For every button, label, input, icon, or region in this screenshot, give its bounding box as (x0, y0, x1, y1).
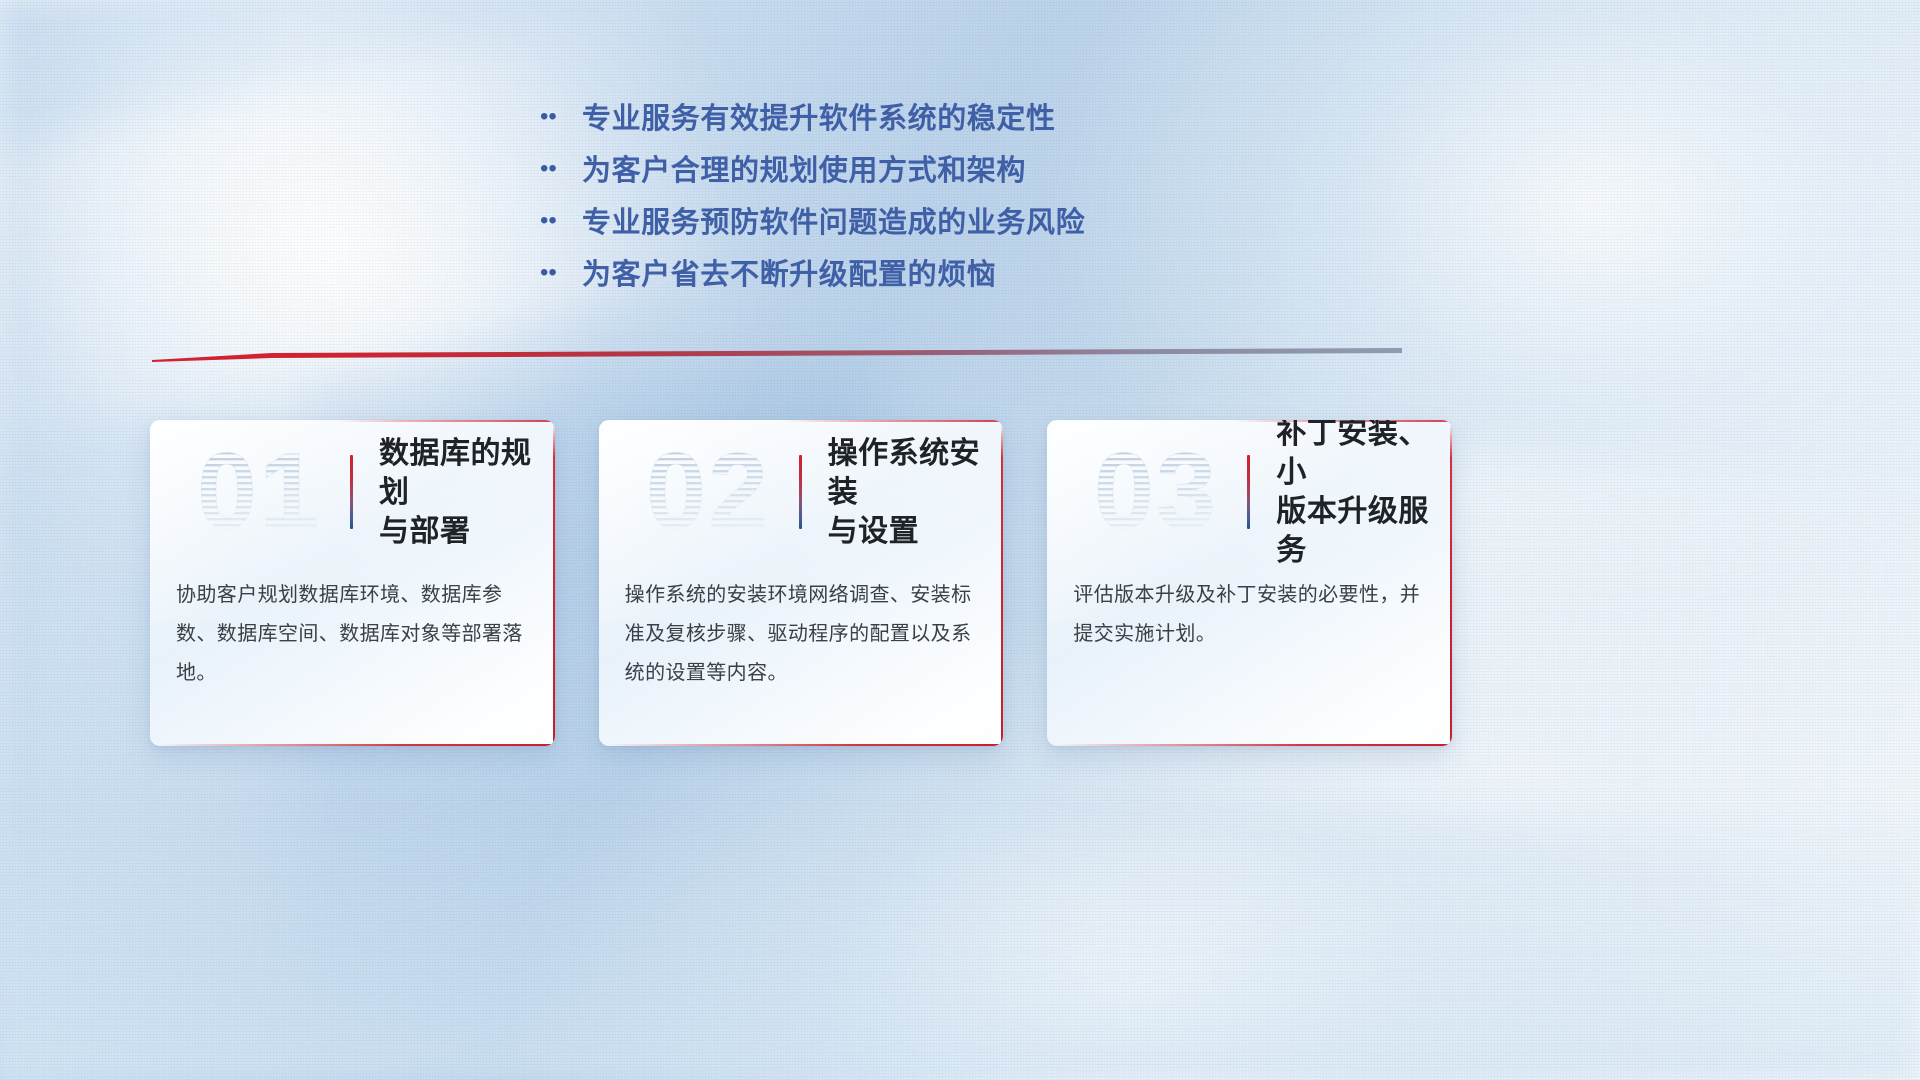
card-accent-edge-top (336, 420, 553, 422)
card-accent-edge-bottom (607, 744, 1004, 746)
service-card[interactable]: 01 01 数据库的规划 与部署 协助客户规划数据库环境、数据库参数、数据库空间… (150, 420, 555, 746)
card-title-line-1: 补丁安装、小 (1276, 420, 1434, 492)
card-title-line-1: 操作系统安装 (828, 434, 986, 512)
card-title-line-2: 与设置 (828, 512, 986, 551)
bullet-text: 专业服务预防软件问题造成的业务风险 (564, 199, 1085, 241)
card-title-line-2: 版本升级服务 (1276, 492, 1434, 570)
card-header: 01 01 数据库的规划 与部署 (150, 434, 537, 550)
card-accent-edge-bottom (1055, 744, 1452, 746)
card-title: 数据库的规划 与部署 (379, 434, 537, 551)
card-header: 02 02 操作系统安装 与设置 (599, 434, 986, 550)
card-accent-edge-bottom (158, 744, 555, 746)
card-body-text: 评估版本升级及补丁安装的必要性，并提交实施计划。 (1073, 576, 1428, 654)
card-accent-edge-right (1450, 426, 1452, 746)
striped-number-icon: 01 01 (172, 440, 346, 544)
card-title: 操作系统安装 与设置 (828, 434, 986, 551)
card-title-accent-bar (350, 455, 353, 529)
card-accent-edge-right (1001, 426, 1003, 746)
bullet-dot-icon: • (540, 207, 564, 233)
service-cards-row: 01 01 数据库的规划 与部署 协助客户规划数据库环境、数据库参数、数据库空间… (150, 420, 1452, 750)
list-item: • 专业服务预防软件问题造成的业务风险 (540, 194, 1085, 246)
card-title-accent-bar (799, 455, 802, 529)
bullet-dot-icon: • (540, 155, 564, 181)
bullet-text: 专业服务有效提升软件系统的稳定性 (564, 95, 1056, 137)
svg-text:01: 01 (197, 440, 321, 544)
bullet-text: 为客户合理的规划使用方式和架构 (564, 147, 1026, 189)
bullet-dot-icon: • (540, 103, 564, 129)
card-title-line-1: 数据库的规划 (379, 434, 537, 512)
card-number-watermark: 01 01 (172, 437, 346, 547)
card-number-watermark: 03 03 (1069, 437, 1243, 547)
striped-number-icon: 02 02 (621, 440, 795, 544)
divider-wedge-icon (152, 344, 1402, 368)
benefits-bullet-list: • 专业服务有效提升软件系统的稳定性 • 为客户合理的规划使用方式和架构 • 专… (540, 90, 1085, 298)
list-item: • 专业服务有效提升软件系统的稳定性 (540, 90, 1085, 142)
list-item: • 为客户合理的规划使用方式和架构 (540, 142, 1085, 194)
card-body-text: 协助客户规划数据库环境、数据库参数、数据库空间、数据库对象等部署落地。 (176, 576, 531, 693)
card-header: 03 03 补丁安装、小 版本升级服务 (1047, 434, 1434, 550)
card-title-accent-bar (1247, 455, 1250, 529)
bullet-text: 为客户省去不断升级配置的烦恼 (564, 251, 996, 293)
card-title: 补丁安装、小 版本升级服务 (1276, 420, 1434, 570)
section-divider (152, 344, 1402, 368)
list-item: • 为客户省去不断升级配置的烦恼 (540, 246, 1085, 298)
svg-text:03: 03 (1094, 440, 1218, 544)
svg-text:02: 02 (646, 440, 770, 544)
card-accent-edge-right (553, 426, 555, 746)
card-number-watermark: 02 02 (621, 437, 795, 547)
service-card[interactable]: 03 03 补丁安装、小 版本升级服务 评估版本升级及补丁安装的必要性，并提交实… (1047, 420, 1452, 746)
striped-number-icon: 03 03 (1069, 440, 1243, 544)
service-card[interactable]: 02 02 操作系统安装 与设置 操作系统的安装环境网络调查、安装标准及复核步骤… (599, 420, 1004, 746)
card-title-line-2: 与部署 (379, 512, 537, 551)
card-body-text: 操作系统的安装环境网络调查、安装标准及复核步骤、驱动程序的配置以及系统的设置等内… (625, 576, 980, 693)
bullet-dot-icon: • (540, 259, 564, 285)
card-accent-edge-top (785, 420, 1002, 422)
